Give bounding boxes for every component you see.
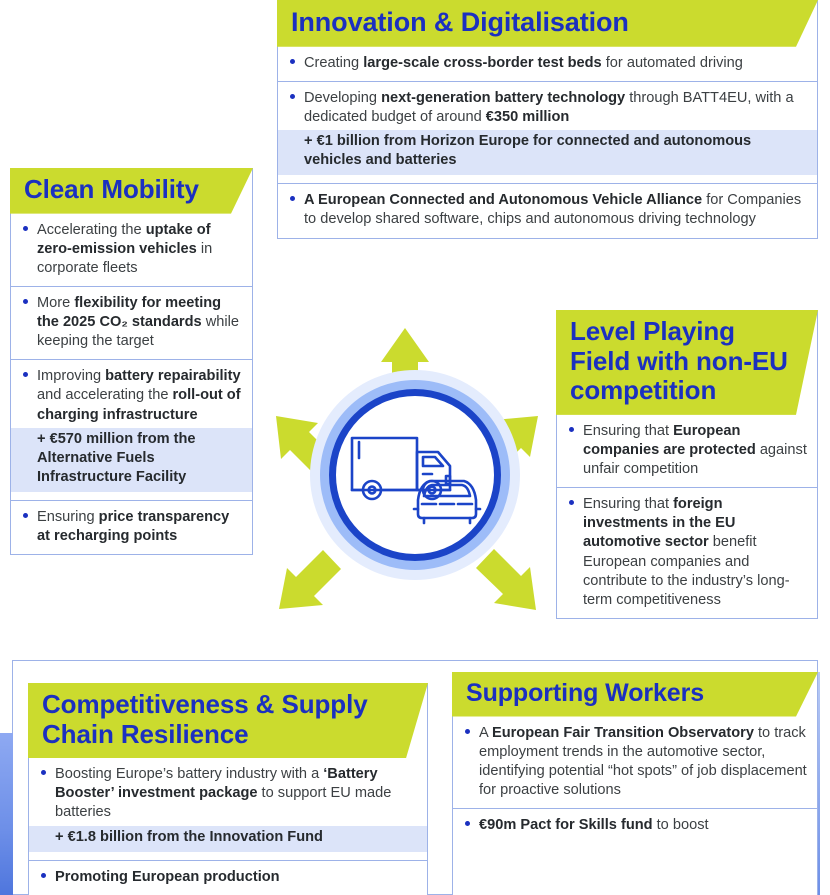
panel-rows-clean-mobility: Accelerating the uptake of zero-emission… <box>11 214 252 555</box>
bullet-text: A European Fair Transition Observatory t… <box>479 725 807 798</box>
bullet-text: Ensuring that European companies are pro… <box>583 423 807 477</box>
panel-level-playing-field: Level Playing Field with non-EU competit… <box>556 310 818 619</box>
bullet-text: Promoting European production <box>55 869 280 885</box>
bullet-point-icon <box>23 226 28 231</box>
panel-clean-mobility: Clean Mobility Accelerating the uptake o… <box>10 168 253 555</box>
panel-rows-supporting-workers: A European Fair Transition Observatory t… <box>453 717 817 844</box>
left-edge-accent-bar <box>0 733 13 895</box>
funding-highlight: + €570 million from the Alternative Fuel… <box>11 428 252 492</box>
panel-title-clean-mobility: Clean Mobility <box>10 168 253 214</box>
bullet-point-icon <box>290 59 295 64</box>
bullet-point-icon <box>465 729 470 734</box>
panel-rows-innovation: Creating large-scale cross-border test b… <box>278 47 817 238</box>
bullet-row: Ensuring price transparency at rechargin… <box>11 500 252 554</box>
bullet-point-icon <box>290 196 295 201</box>
panel-title-supporting-workers: Supporting Workers <box>452 672 818 717</box>
bullet-row: Creating large-scale cross-border test b… <box>278 47 817 81</box>
bullet-text: More flexibility for meeting the 2025 CO… <box>37 295 239 349</box>
bullet-row: A European Connected and Autonomous Vehi… <box>278 183 817 237</box>
bullet-point-icon <box>23 372 28 377</box>
bullet-row: Boosting Europe’s battery industry with … <box>29 758 427 859</box>
bullet-text: Creating large-scale cross-border test b… <box>304 55 743 71</box>
bullet-row: Developing next-generation battery techn… <box>278 81 817 183</box>
bullet-point-icon <box>41 873 46 878</box>
bullet-text: A European Connected and Autonomous Vehi… <box>304 192 801 227</box>
bullet-text: Improving battery repairability and acce… <box>37 368 241 422</box>
bullet-text: Ensuring price transparency at rechargin… <box>37 509 229 544</box>
bullet-row: €90m Pact for Skills fund to boost <box>453 808 817 843</box>
bullet-text: Developing next-generation battery techn… <box>304 90 794 125</box>
bullet-point-icon <box>569 427 574 432</box>
bullet-row: Improving battery repairability and acce… <box>11 359 252 500</box>
bullet-row: A European Fair Transition Observatory t… <box>453 717 817 808</box>
truck-and-car-icon <box>346 424 486 529</box>
bullet-point-icon <box>290 94 295 99</box>
panel-title-innovation: Innovation & Digitalisation <box>277 0 818 47</box>
funding-highlight: + €1.8 billion from the Innovation Fund <box>29 826 427 852</box>
panel-competitiveness-supply-chain: Competitiveness & Supply Chain Resilienc… <box>28 683 428 895</box>
bullet-row: More flexibility for meeting the 2025 CO… <box>11 286 252 359</box>
bullet-text: Boosting Europe’s battery industry with … <box>55 766 391 820</box>
bullet-point-icon <box>465 821 470 826</box>
central-emblem <box>272 320 548 650</box>
bullet-row: Ensuring that European companies are pro… <box>557 415 817 487</box>
bullet-point-icon <box>23 513 28 518</box>
bullet-text: Ensuring that foreign investments in the… <box>583 496 790 608</box>
panel-supporting-workers: Supporting Workers A European Fair Trans… <box>452 672 818 895</box>
bullet-row: Promoting European production <box>29 860 427 895</box>
bullet-point-icon <box>23 299 28 304</box>
bullet-point-icon <box>41 770 46 775</box>
panel-title-competitiveness: Competitiveness & Supply Chain Resilienc… <box>28 683 428 758</box>
bullet-row: Ensuring that foreign investments in the… <box>557 487 817 618</box>
panel-title-level-playing-field: Level Playing Field with non-EU competit… <box>556 310 818 415</box>
right-edge-accent-line <box>818 672 820 895</box>
panel-rows-level-playing-field: Ensuring that European companies are pro… <box>557 415 817 618</box>
bullet-point-icon <box>569 500 574 505</box>
infographic-canvas: Innovation & Digitalisation Creating lar… <box>0 0 830 895</box>
bullet-row: Accelerating the uptake of zero-emission… <box>11 214 252 286</box>
bullet-text: Accelerating the uptake of zero-emission… <box>37 222 212 276</box>
bullet-text: €90m Pact for Skills fund to boost <box>479 817 709 833</box>
funding-highlight: + €1 billion from Horizon Europe for con… <box>278 130 817 175</box>
panel-innovation-digitalisation: Innovation & Digitalisation Creating lar… <box>277 0 818 239</box>
panel-rows-competitiveness: Boosting Europe’s battery industry with … <box>29 758 427 895</box>
